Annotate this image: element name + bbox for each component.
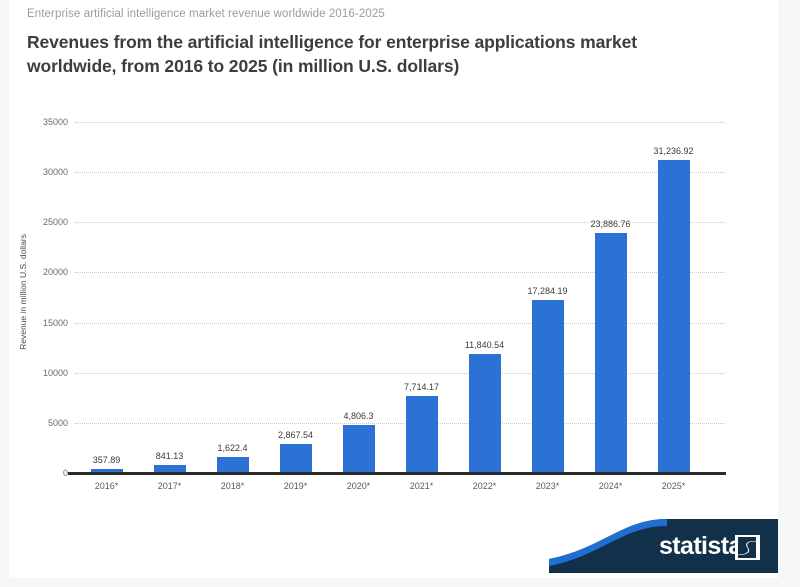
bar[interactable] [217,457,249,473]
y-axis-tick-label: 10000 [22,368,68,378]
y-axis-tick-label: 15000 [22,318,68,328]
bar-group[interactable]: 31,236.92 [642,122,705,473]
bar[interactable] [658,160,690,473]
statista-logo[interactable]: statista [549,519,778,573]
x-axis-tick-label: 2023* [516,481,579,491]
bar[interactable] [406,396,438,473]
x-axis-tick-label: 2025* [642,481,705,491]
bar-value-label: 31,236.92 [653,146,693,156]
bar-value-label: 7,714.17 [404,382,439,392]
bar-value-label: 23,886.76 [590,219,630,229]
x-axis-tick-label: 2019* [264,481,327,491]
bar-group[interactable]: 841.13 [138,122,201,473]
bar[interactable] [532,300,564,473]
bar-group[interactable]: 357.89 [75,122,138,473]
bar-group[interactable]: 2,867.54 [264,122,327,473]
x-axis-tick-label: 2021* [390,481,453,491]
bar-value-label: 357.89 [93,455,121,465]
bar-chart: Revenue in million U.S. dollars 05000100… [0,0,800,587]
bar-group[interactable]: 23,886.76 [579,122,642,473]
bar-group[interactable]: 4,806.3 [327,122,390,473]
bar[interactable] [595,233,627,473]
plot-area: 357.89841.131,622.42,867.544,806.37,714.… [75,122,725,473]
y-axis-tick-label: 25000 [22,217,68,227]
x-axis-tick-label: 2018* [201,481,264,491]
x-axis-tick-label: 2016* [75,481,138,491]
bar[interactable] [469,354,501,473]
bar-value-label: 841.13 [156,451,184,461]
bar-group[interactable]: 11,840.54 [453,122,516,473]
y-axis-tick-label: 35000 [22,117,68,127]
x-axis-tick-label: 2020* [327,481,390,491]
bar-group[interactable]: 1,622.4 [201,122,264,473]
bar[interactable] [280,444,312,473]
x-axis-tick-label: 2022* [453,481,516,491]
y-axis-tick-label: 20000 [22,267,68,277]
bar-value-label: 4,806.3 [343,411,373,421]
bar-group[interactable]: 17,284.19 [516,122,579,473]
bar-value-label: 1,622.4 [217,443,247,453]
statista-mark-icon [735,535,760,560]
y-axis-tick-label: 0 [22,468,68,478]
y-axis-tick-label: 5000 [22,418,68,428]
bar-value-label: 11,840.54 [465,340,504,350]
bar-value-label: 17,284.19 [527,286,567,296]
statista-chart-page: Enterprise artificial intelligence marke… [0,0,800,587]
bar-value-label: 2,867.54 [278,430,313,440]
bar[interactable] [343,425,375,473]
x-axis-tick-label: 2017* [138,481,201,491]
y-axis-tick-label: 30000 [22,167,68,177]
bar-group[interactable]: 7,714.17 [390,122,453,473]
x-axis-line [68,472,726,475]
x-axis-tick-label: 2024* [579,481,642,491]
y-axis-ticks: 05000100001500020000250003000035000 [22,0,68,587]
statista-wordmark: statista [659,532,742,561]
